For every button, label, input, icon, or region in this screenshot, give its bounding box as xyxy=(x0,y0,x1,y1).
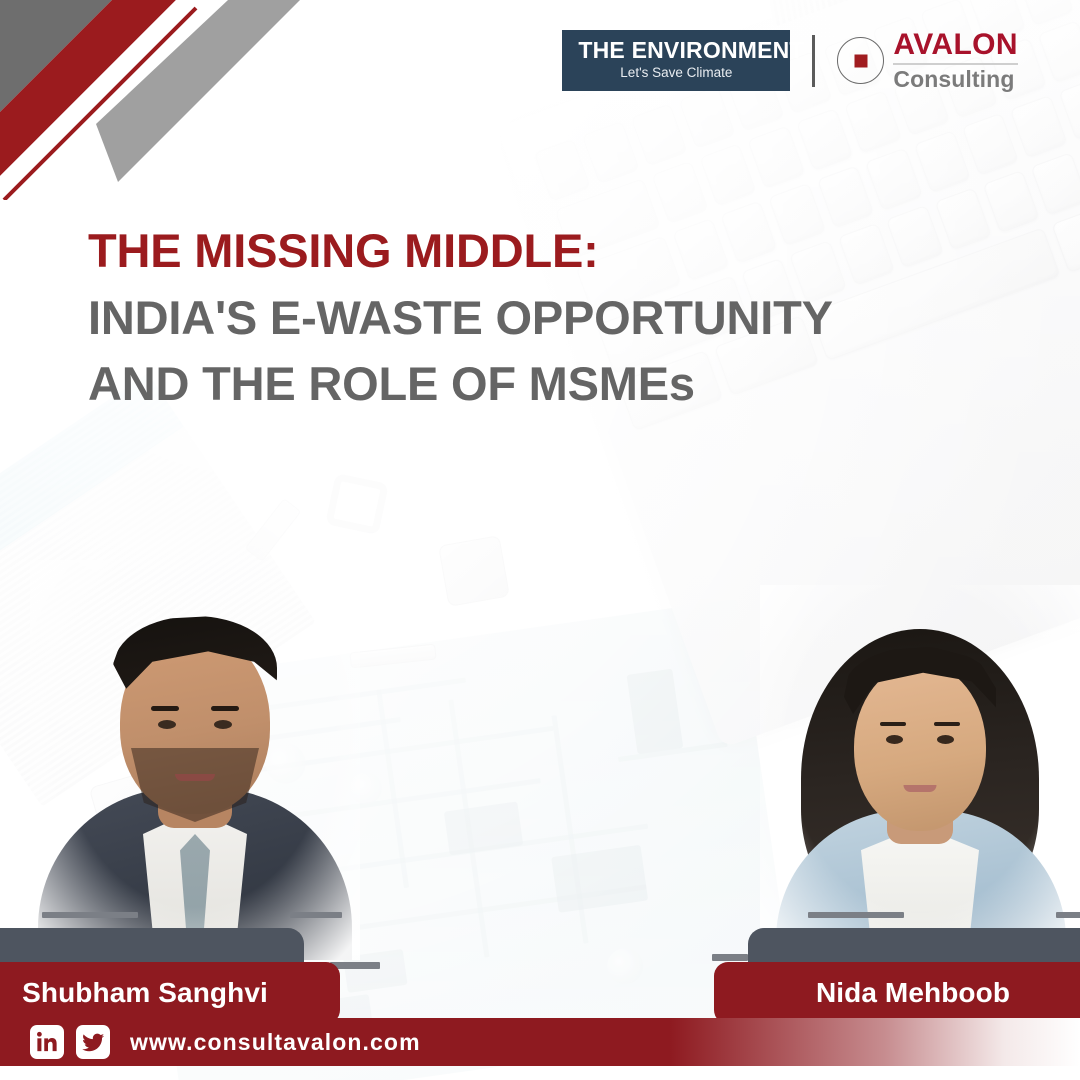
linkedin-icon[interactable] xyxy=(30,1025,64,1059)
accent-dash xyxy=(712,954,748,961)
accent-dash xyxy=(808,912,904,918)
accent-dash xyxy=(42,912,138,918)
avalon-logo-rule xyxy=(893,63,1018,65)
footer-bar: www.consultavalon.com xyxy=(0,1018,1080,1066)
plate-red-bar: Shubham Sanghvi xyxy=(0,962,340,1024)
avatar-shubham-sanghvi xyxy=(30,560,360,960)
avatar-nida-mehboob xyxy=(760,585,1080,960)
headline-line-1: THE MISSING MIDDLE: xyxy=(88,218,888,285)
avalon-subtitle: Consulting xyxy=(893,67,1018,91)
accent-dash xyxy=(290,912,342,918)
page-title: THE MISSING MIDDLE: INDIA'S E-WASTE OPPO… xyxy=(88,218,888,418)
avalon-circle-dot-icon xyxy=(837,37,884,84)
accent-dash xyxy=(1056,912,1080,918)
headline-line-3: AND THE ROLE OF MSMEs xyxy=(88,351,888,418)
component-ring-graphic xyxy=(325,473,389,535)
the-environment-badge: THE ENVIRONMENT Let's Save Climate xyxy=(562,30,790,90)
speaker-name: Shubham Sanghvi xyxy=(22,977,268,1009)
avalon-logo[interactable]: AVALON Consulting xyxy=(837,30,1018,91)
twitter-icon[interactable] xyxy=(76,1025,110,1059)
environment-badge-title: THE ENVIRONMENT xyxy=(578,39,774,63)
website-url[interactable]: www.consultavalon.com xyxy=(130,1029,421,1056)
vertical-divider-icon xyxy=(812,35,815,87)
environment-badge-tagline: Let's Save Climate xyxy=(578,66,774,80)
avalon-wordmark: AVALON xyxy=(893,30,1018,60)
poster-canvas: THE ENVIRONMENT Let's Save Climate AVALO… xyxy=(0,0,1080,1080)
headline-line-2: INDIA'S E-WASTE OPPORTUNITY xyxy=(88,285,888,352)
header-logo-row: THE ENVIRONMENT Let's Save Climate AVALO… xyxy=(0,30,1080,91)
speaker-name: Nida Mehboob xyxy=(816,977,1010,1009)
component-chip-graphic xyxy=(438,535,510,607)
plate-red-bar: Nida Mehboob xyxy=(714,962,1080,1024)
